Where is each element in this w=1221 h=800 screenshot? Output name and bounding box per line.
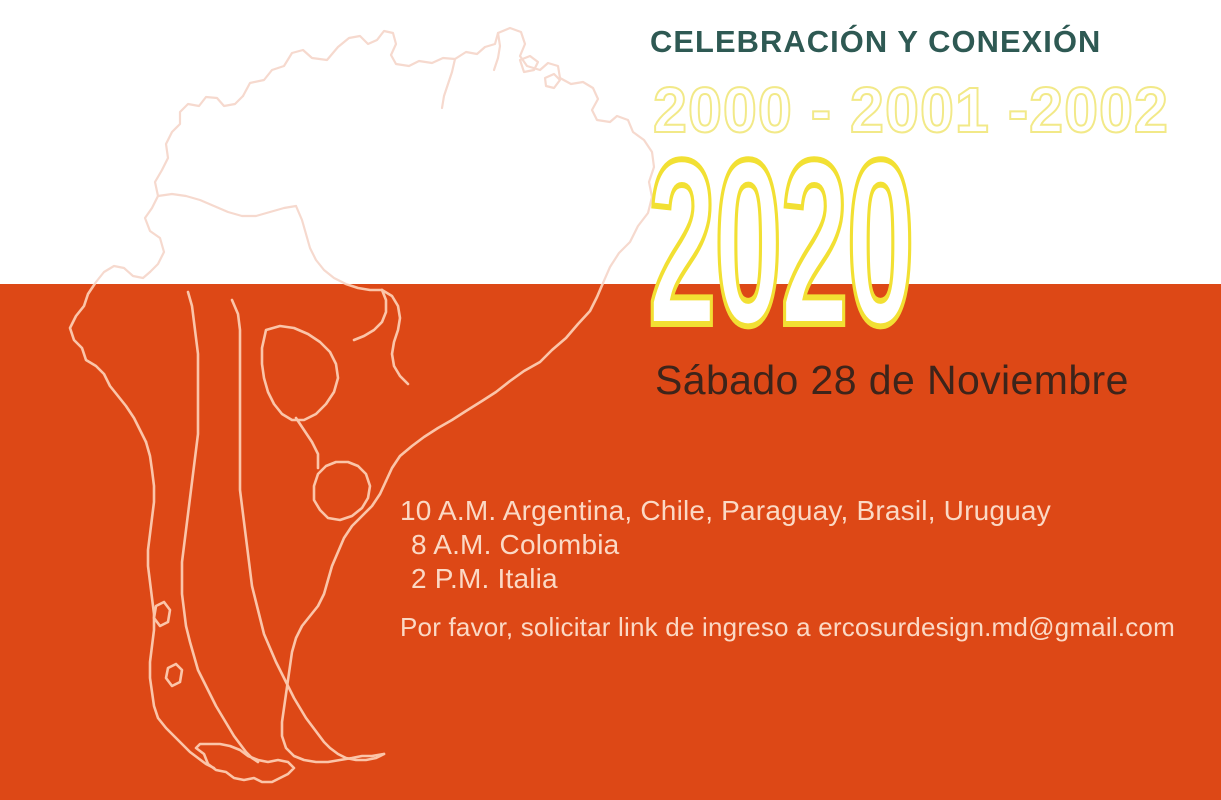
big-year-block: 2020 2020 [648, 128, 1118, 352]
timezone-list: 10 A.M. Argentina, Chile, Paraguay, Bras… [400, 494, 1000, 596]
headline-block: CELEBRACIÓN Y CONEXIÓN [650, 26, 1102, 57]
map-outline-top [70, 28, 654, 782]
big-year-outline: 2020 [648, 128, 913, 352]
event-date: Sábado 28 de Noviembre [655, 356, 1129, 405]
timezone-line-2: 8 A.M. Colombia [400, 528, 1000, 562]
map-outline-bottom [70, 28, 654, 782]
kicker-title: CELEBRACIÓN Y CONEXIÓN [650, 26, 1100, 57]
timezone-line-1: 10 A.M. Argentina, Chile, Paraguay, Bras… [400, 494, 1000, 528]
timezone-line-3: 2 P.M. Italia [400, 562, 1000, 596]
contact-note: Por favor, solicitar link de ingreso a e… [400, 612, 1175, 643]
invitation-poster: CELEBRACIÓN Y CONEXIÓN 2000 - 2001 -2002… [0, 0, 1221, 800]
